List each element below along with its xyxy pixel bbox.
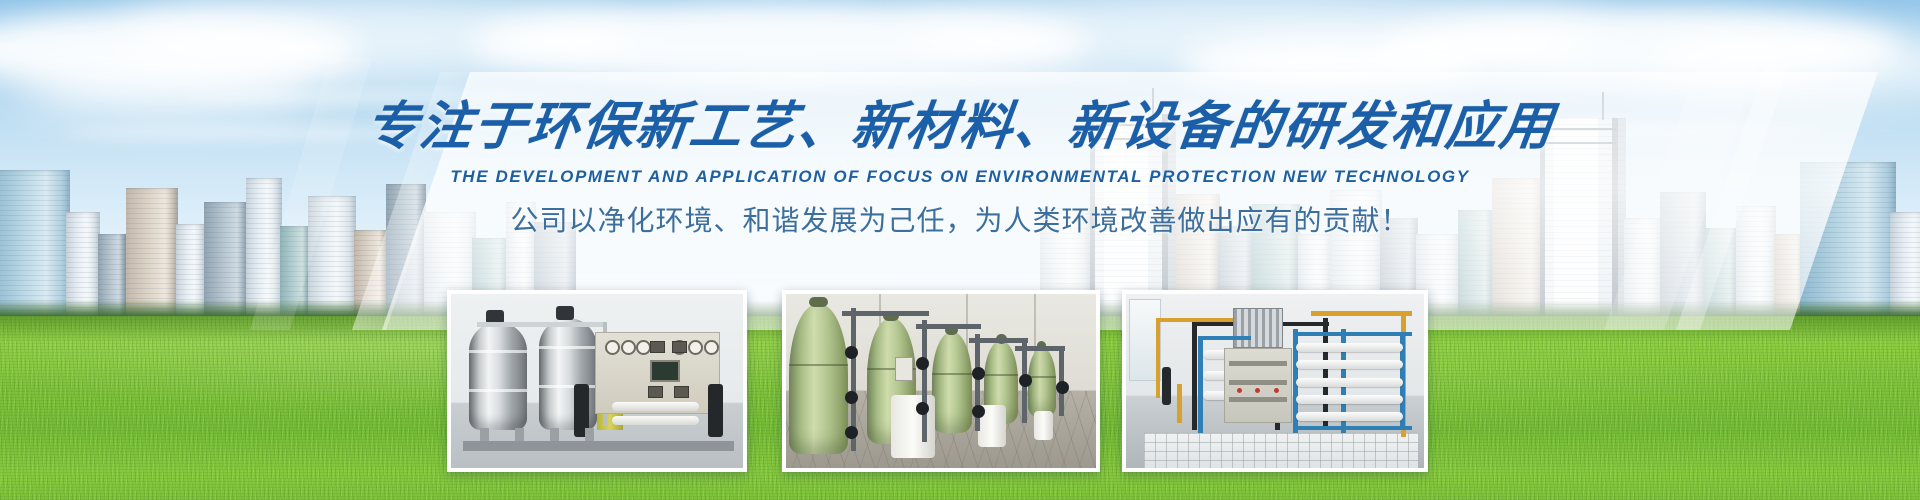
filter-press-stack (1233, 308, 1283, 348)
banner-copy: 专注于环保新工艺、新材料、新设备的研发和应用 THE DEVELOPMENT A… (0, 96, 1920, 240)
pump (708, 384, 723, 436)
controller-box (895, 357, 913, 381)
gauge (704, 340, 719, 355)
green-frp-tank-row-image (786, 294, 1096, 468)
panel-button (674, 386, 689, 398)
industrial-ro-plant-image (1126, 294, 1424, 468)
brine-tank (891, 395, 934, 458)
tank-band (469, 350, 527, 353)
blue-frame-rail (1293, 332, 1412, 336)
yellow-pipe (1311, 311, 1412, 316)
header-pipe (842, 311, 929, 316)
header-pipe (1015, 346, 1065, 351)
stainless-steel-ro-skid-image (451, 294, 743, 468)
cloud-wisp (620, 70, 1140, 80)
panel-button (650, 341, 665, 353)
steel-tank (469, 322, 527, 430)
ro-membrane-vessel (1296, 343, 1403, 352)
product-photo-1[interactable] (447, 290, 747, 472)
riser-pipe (922, 320, 927, 442)
english-subtitle: THE DEVELOPMENT AND APPLICATION OF FOCUS… (0, 166, 1920, 188)
status-led (1274, 388, 1279, 393)
frp-filter-tank (789, 304, 848, 454)
blue-frame-rail (1198, 336, 1252, 340)
membrane-vessel (612, 402, 700, 411)
ro-membrane-vessel (1296, 378, 1403, 387)
pipe-valve (916, 402, 929, 415)
tank-ring (789, 364, 848, 366)
header-pipe (969, 338, 1028, 343)
pipe-valve (1056, 381, 1069, 394)
header-pipe (916, 324, 981, 329)
ro-membrane-vessel (1296, 412, 1403, 421)
black-pipe (1192, 322, 1197, 430)
product-photo-2[interactable] (782, 290, 1100, 472)
tank-head (809, 297, 828, 307)
page-title: 专注于环保新工艺、新材料、新设备的研发和应用 (0, 96, 1920, 158)
frp-filter-tank (932, 332, 972, 433)
tank-ring (932, 373, 972, 375)
product-photo-strip (0, 290, 1920, 472)
status-led (1237, 388, 1242, 393)
gauge (688, 340, 703, 355)
ro-membrane-vessel (1296, 395, 1403, 404)
cabinet-row (1229, 361, 1287, 366)
blue-frame-rail (1293, 426, 1412, 430)
yellow-pipe (1156, 318, 1160, 398)
pipe-valve (845, 346, 858, 359)
panel-button (672, 341, 687, 353)
blue-frame-post (1198, 336, 1203, 433)
tank-ring (984, 374, 1018, 376)
display-screen (650, 360, 680, 382)
tank-band (469, 389, 527, 392)
frp-filter-tank (1028, 348, 1056, 418)
tank-band (539, 346, 597, 349)
yellow-pipe (1177, 384, 1182, 422)
brine-tank (1034, 411, 1053, 441)
panel-button (648, 386, 663, 398)
cabinet-row (1229, 397, 1287, 402)
tank-ring (1028, 376, 1056, 378)
tank-valve (556, 306, 574, 320)
membrane-vessel (612, 416, 700, 425)
cabinet-row (1229, 380, 1287, 385)
control-cabinet (1224, 348, 1292, 423)
pipe-valve (916, 357, 929, 370)
company-tagline: 公司以净化环境、和谐发展为己任，为人类环境改善做出应有的贡献！ (0, 202, 1920, 240)
hero-banner: 专注于环保新工艺、新材料、新设备的研发和应用 THE DEVELOPMENT A… (0, 0, 1920, 500)
tiled-plinth (1144, 432, 1418, 468)
pipe-valve (972, 367, 985, 380)
status-led (1255, 388, 1260, 393)
product-photo-3[interactable] (1122, 290, 1428, 472)
pipe-valve (1019, 374, 1032, 387)
ro-membrane-vessel (1296, 360, 1403, 369)
skid-base (463, 441, 735, 451)
top-pipe (477, 322, 603, 327)
gauge (621, 340, 636, 355)
gauge (605, 340, 620, 355)
feed-pump (1162, 367, 1171, 405)
